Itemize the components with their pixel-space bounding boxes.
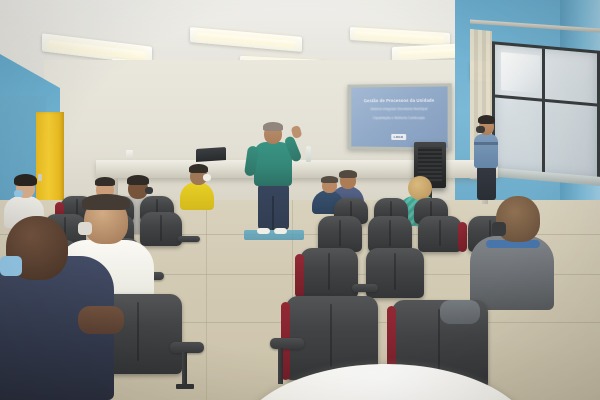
chair-arm-r3-3 xyxy=(178,236,200,242)
window xyxy=(492,41,600,180)
chair-r3-4[interactable] xyxy=(318,216,362,252)
chair-r3-3[interactable] xyxy=(140,212,182,246)
slide-line-2: Capacitação e Melhoria Continuada xyxy=(358,116,441,121)
chair-r3-5[interactable] xyxy=(368,216,412,252)
projection-screen: Gestão de Processos da Unidade Sistema I… xyxy=(347,83,451,150)
projected-slide: Gestão de Processos da Unidade Sistema I… xyxy=(351,86,447,147)
slide-title: Gestão de Processos da Unidade xyxy=(364,98,435,104)
cup xyxy=(126,150,133,160)
chair-r3-6[interactable] xyxy=(418,216,462,252)
door-handle[interactable] xyxy=(38,174,42,181)
standing-attendee-torso xyxy=(474,134,498,168)
yellow-door[interactable] xyxy=(36,112,64,208)
chair-leg-r1-3 xyxy=(278,348,283,384)
laptop xyxy=(196,147,226,162)
chair-arm-r2-4 xyxy=(352,284,378,292)
classroom-photo: Gestão de Processos da Unidade Sistema I… xyxy=(0,0,600,400)
presenter-torso xyxy=(254,142,292,186)
presenter-shoe-left xyxy=(257,228,270,234)
chair-leg-r1-2 xyxy=(182,352,187,386)
chair-r2-3[interactable] xyxy=(300,248,358,298)
slide-line-1: Sistema Integrado Secretaria Municipal xyxy=(358,107,441,112)
slide-logo: LOGO xyxy=(391,134,407,140)
standing-attendee-hair xyxy=(478,115,495,124)
presenter-shoe-right xyxy=(274,228,287,234)
standing-attendee-legs xyxy=(477,166,496,200)
chair-foot-r1-2 xyxy=(176,384,194,389)
presenter-leg-seam xyxy=(272,196,274,230)
water-bottle xyxy=(306,146,311,162)
chair-arm-r1-3 xyxy=(270,338,304,349)
standing-attendee-face-mask xyxy=(476,126,485,133)
chair-arm-r1-2 xyxy=(170,342,204,353)
standing-attendee-shirt-stripe xyxy=(474,142,498,145)
presenter-hair xyxy=(263,122,283,131)
